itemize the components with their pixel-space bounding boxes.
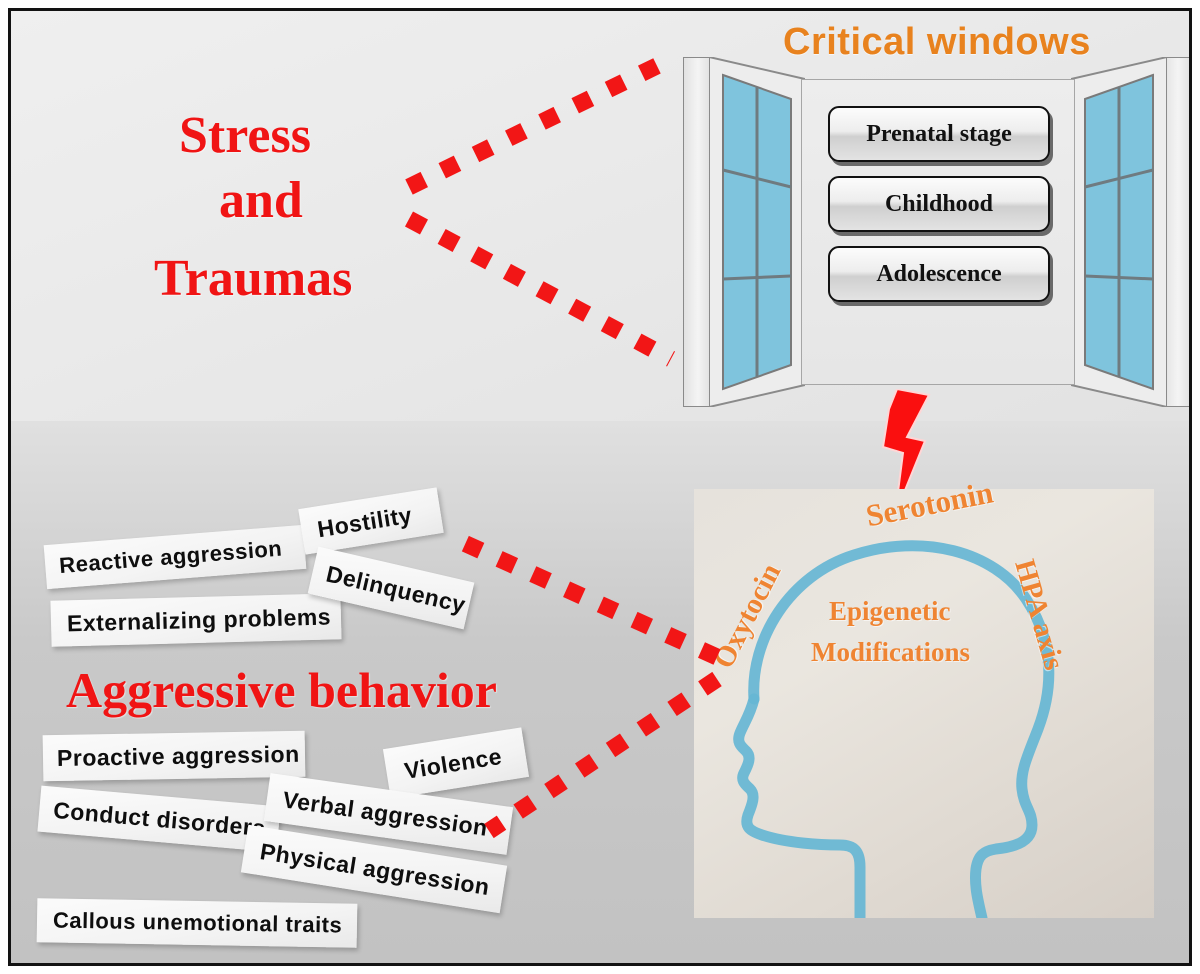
stage-button-childhood[interactable]: Childhood bbox=[828, 176, 1050, 232]
window-left-shutter bbox=[709, 57, 805, 407]
window-right-shutter bbox=[1071, 57, 1167, 407]
open-window-icon: Prenatal stage Childhood Adolescence bbox=[683, 57, 1192, 407]
diagram-canvas: Critical windows bbox=[0, 0, 1200, 974]
stage-button-prenatal[interactable]: Prenatal stage bbox=[828, 106, 1050, 162]
aggression-label-externalizing-problems: Externalizing problems bbox=[50, 593, 341, 647]
window-right-post bbox=[1163, 57, 1192, 407]
aggressive-behavior-heading: Aggressive behavior bbox=[66, 661, 497, 719]
stress-heading-line3: Traumas bbox=[154, 249, 352, 308]
aggression-label-proactive-aggression: Proactive aggression bbox=[43, 731, 306, 782]
stage-button-adolescence[interactable]: Adolescence bbox=[828, 246, 1050, 302]
stress-heading-line1: Stress bbox=[179, 106, 311, 165]
brain-label-epigenetic-line1: Epigenetic bbox=[829, 596, 951, 627]
head-profile-icon bbox=[694, 489, 1154, 918]
aggression-label-callous-unemotional: Callous unemotional traits bbox=[37, 898, 358, 948]
window-inner-panel: Prenatal stage Childhood Adolescence bbox=[801, 79, 1075, 385]
brain-label-epigenetic-line2: Modifications bbox=[811, 637, 970, 668]
diagram-frame: Critical windows bbox=[8, 8, 1192, 966]
stress-heading-line2: and bbox=[219, 171, 303, 230]
head-profile-photo bbox=[694, 489, 1154, 918]
